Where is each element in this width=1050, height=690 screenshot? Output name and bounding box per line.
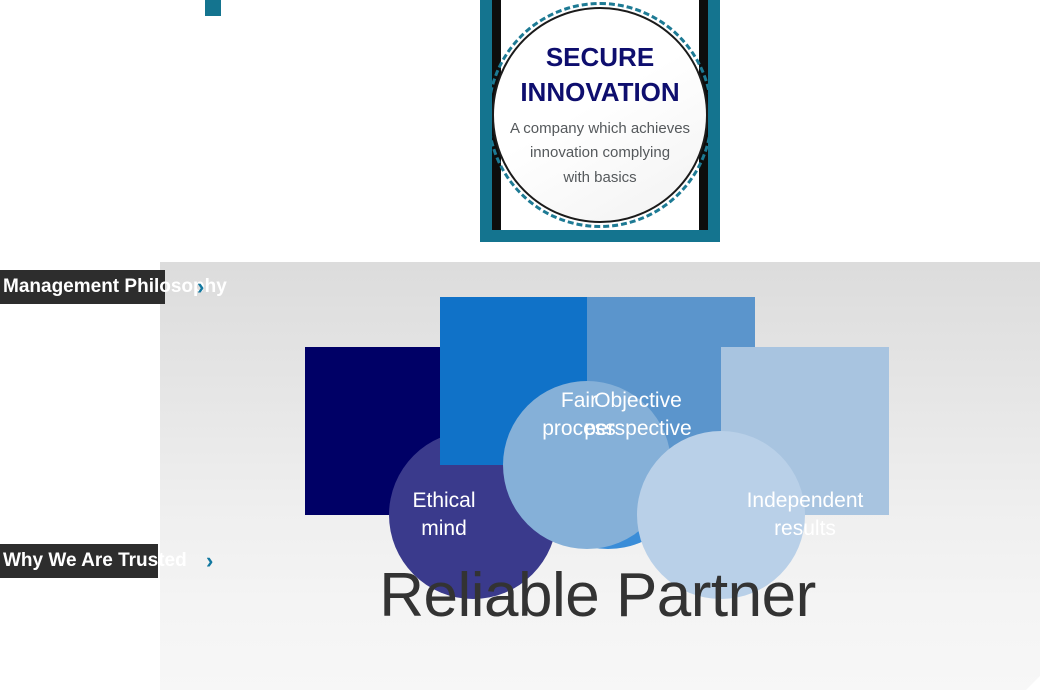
top-accent-chip [205, 0, 221, 16]
sidebar-item-philosophy-label: Management Philosophy [0, 270, 165, 304]
sidebar-item-trusted-label: Why We Are Trusted [0, 544, 158, 578]
sidebar-item-trusted[interactable]: Why We Are Trusted › [0, 544, 213, 578]
panel-corner-notch [1026, 676, 1040, 690]
secure-desc-line-3: with basics [500, 166, 700, 190]
secure-innovation-description: A company which achieves innovation comp… [500, 117, 700, 190]
venn-diagram: Ethical mind Fair process Objective pers… [160, 262, 1040, 522]
secure-title-line-1: SECURE [500, 40, 700, 75]
secure-desc-line-2: innovation complying [500, 141, 700, 165]
secure-innovation-card: SECURE INNOVATION A company which achiev… [480, 0, 720, 242]
secure-title-line-2: INNOVATION [500, 75, 700, 110]
secure-desc-line-1: A company which achieves [500, 117, 700, 141]
chevron-right-icon: › [206, 550, 213, 572]
secure-innovation-text: SECURE INNOVATION A company which achiev… [500, 40, 700, 190]
sidebar-item-philosophy[interactable]: Management Philosophy › [0, 270, 204, 304]
secure-innovation-card-inner: SECURE INNOVATION A company which achiev… [492, 0, 708, 230]
page-root: Vision SECURE INNOVATION A company which… [0, 0, 1050, 690]
page-headline: Reliable Partner [160, 560, 1035, 631]
chevron-right-icon: › [197, 276, 204, 298]
secure-innovation-title: SECURE INNOVATION [500, 40, 700, 109]
